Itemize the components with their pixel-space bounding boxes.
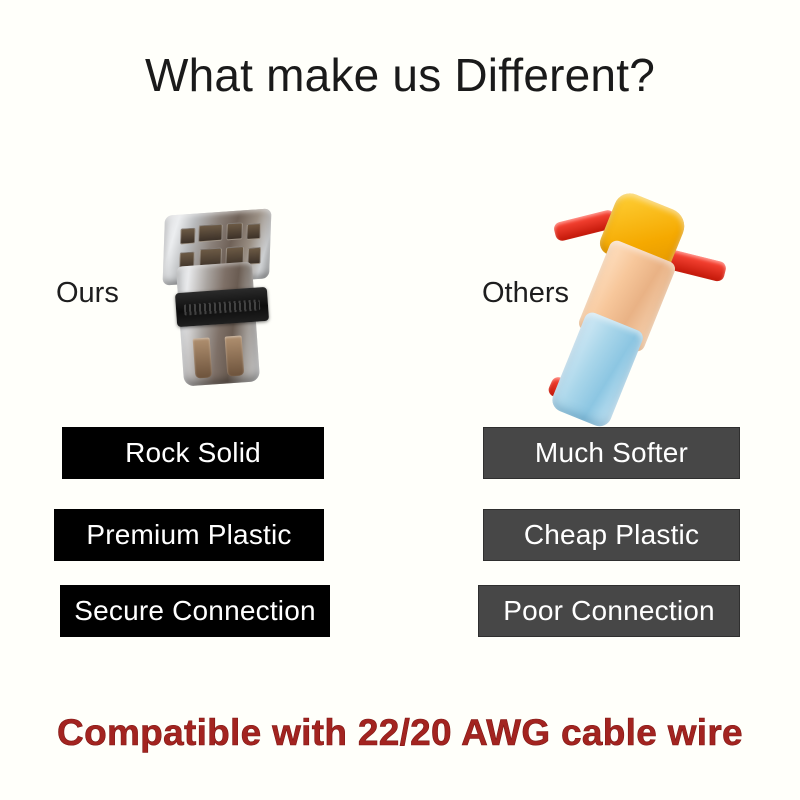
connector-black-clamp-icon	[175, 287, 269, 327]
product-image-ours	[150, 190, 310, 405]
page-title: What make us Different?	[0, 48, 800, 102]
compatibility-note: Compatible with 22/20 AWG cable wire	[0, 712, 800, 754]
feature-box-others-1: Much Softer	[483, 427, 740, 479]
feature-box-ours-2: Premium Plastic	[54, 509, 324, 561]
connector-prong-icon	[193, 337, 213, 378]
column-label-ours: Ours	[56, 277, 119, 310]
connector-prong-icon	[225, 335, 245, 376]
column-label-others: Others	[482, 277, 569, 310]
feature-box-others-3: Poor Connection	[478, 585, 740, 637]
connector-window-icon	[198, 224, 223, 243]
feature-box-ours-1: Rock Solid	[62, 427, 324, 479]
connector-window-icon	[180, 228, 196, 245]
product-image-others	[560, 190, 780, 425]
infographic-canvas: What make us Different? Ours Rock Solid …	[0, 0, 800, 800]
connector-window-icon	[226, 222, 243, 240]
feature-box-ours-3: Secure Connection	[60, 585, 330, 637]
blue-sleeve-icon	[549, 310, 645, 430]
feature-box-others-2: Cheap Plastic	[483, 509, 740, 561]
connector-window-icon	[246, 223, 261, 240]
